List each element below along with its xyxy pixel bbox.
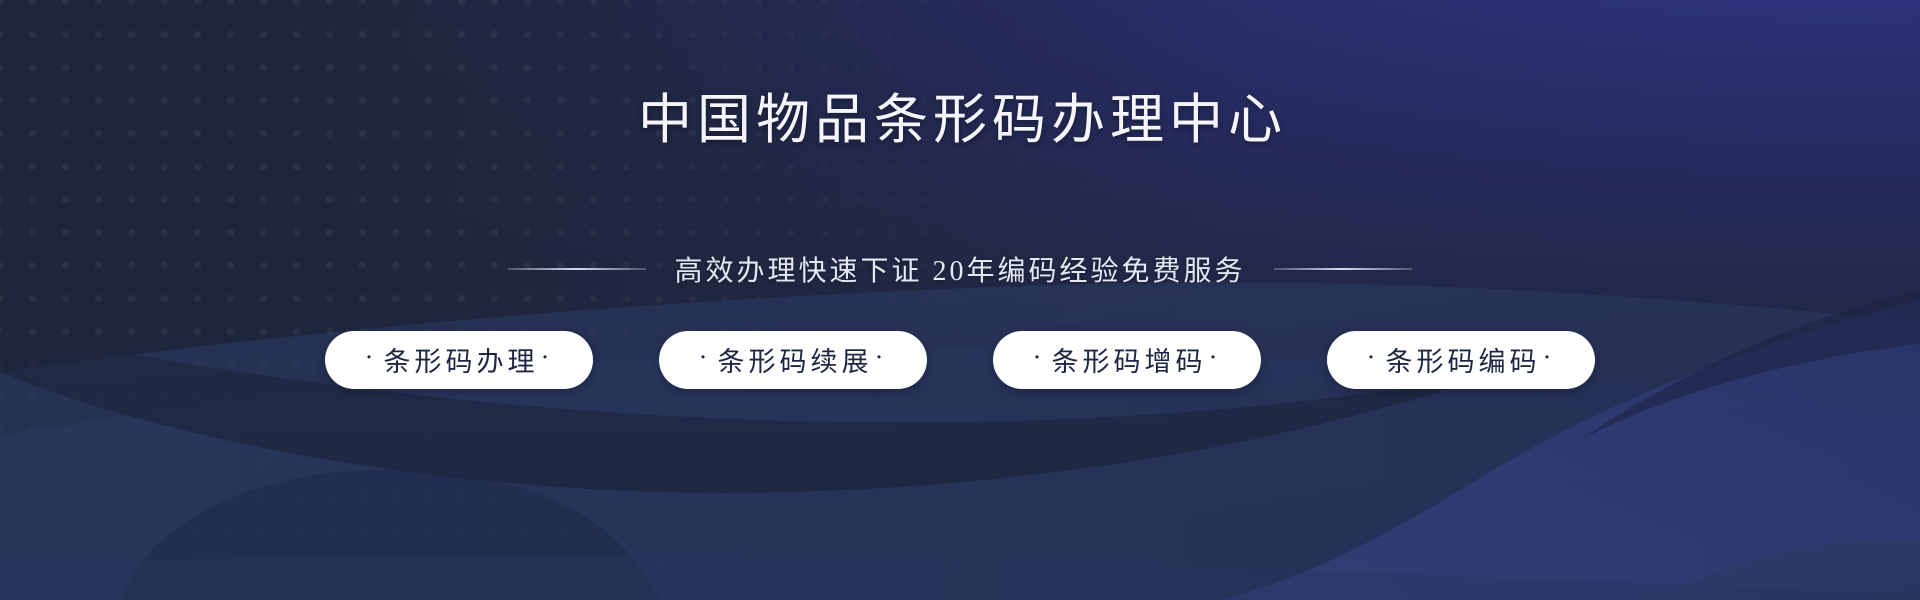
pill-label: 条形码办理 <box>378 340 541 379</box>
pill-button-barcode-renew[interactable]: · 条形码续展 · <box>659 331 927 389</box>
hero-banner: 中国物品条形码办理中心 高效办理快速下证 20年编码经验免费服务 · 条形码办理… <box>0 0 1920 600</box>
dot-icon-right: · <box>1543 344 1556 371</box>
dot-icon-right: · <box>1209 344 1222 371</box>
pill-label: 条形码续展 <box>712 340 875 379</box>
dot-icon-left: · <box>699 344 712 371</box>
dot-icon-right: · <box>875 344 888 371</box>
pill-label: 条形码增码 <box>1046 340 1209 379</box>
pill-label: 条形码编码 <box>1380 340 1543 379</box>
dot-icon-left: · <box>1033 344 1046 371</box>
dot-icon-left: · <box>365 344 378 371</box>
subtitle-row: 高效办理快速下证 20年编码经验免费服务 <box>508 249 1411 289</box>
banner-content: 中国物品条形码办理中心 高效办理快速下证 20年编码经验免费服务 · 条形码办理… <box>0 0 1920 600</box>
pill-button-barcode-apply[interactable]: · 条形码办理 · <box>325 331 593 389</box>
pill-button-barcode-addcode[interactable]: · 条形码增码 · <box>993 331 1261 389</box>
dot-icon-left: · <box>1367 344 1380 371</box>
service-pill-row: · 条形码办理 · · 条形码续展 · · 条形码增码 · · 条形码编码 · <box>325 331 1595 389</box>
pill-button-barcode-encode[interactable]: · 条形码编码 · <box>1327 331 1595 389</box>
subtitle-rule-left <box>508 268 646 270</box>
dot-icon-right: · <box>541 344 554 371</box>
subtitle-text: 高效办理快速下证 20年编码经验免费服务 <box>674 249 1245 289</box>
subtitle-rule-right <box>1274 268 1412 270</box>
page-title: 中国物品条形码办理中心 <box>633 92 1287 149</box>
